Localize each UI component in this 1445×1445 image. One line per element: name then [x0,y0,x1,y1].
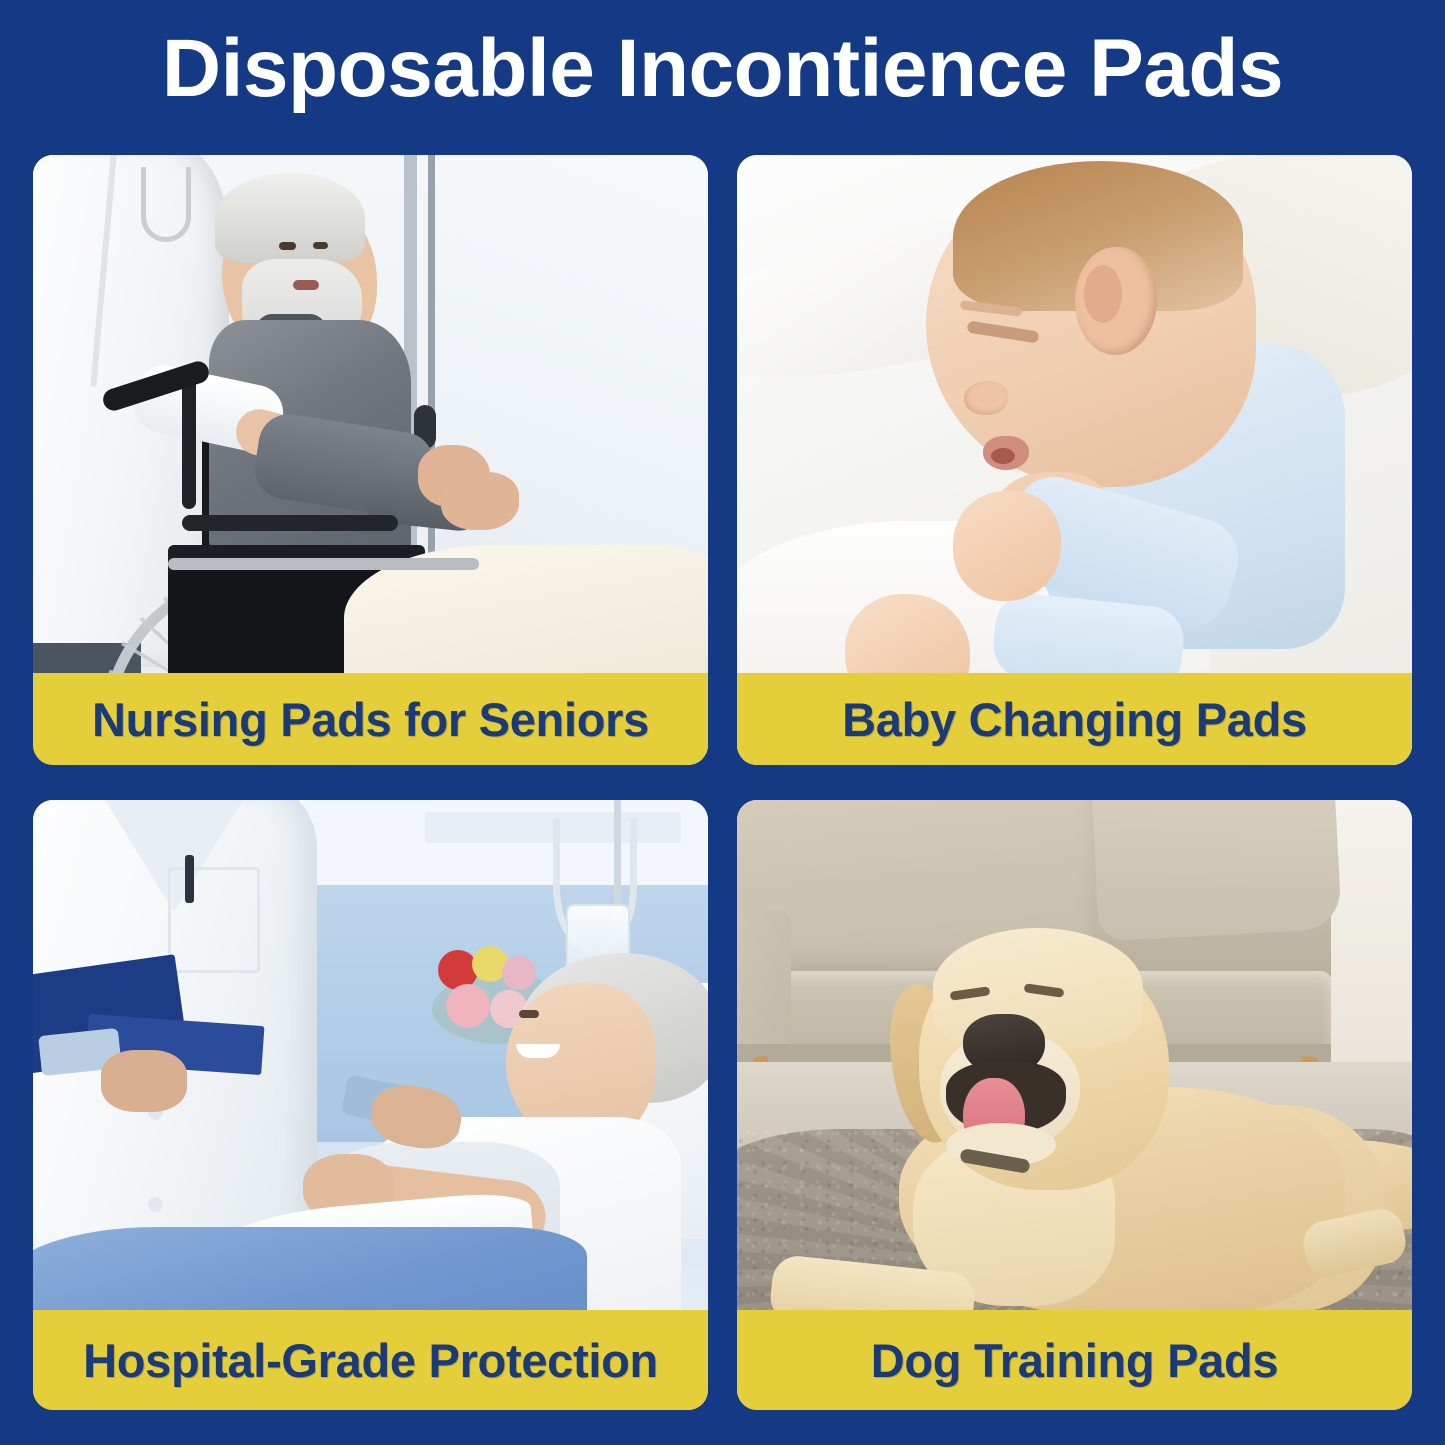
card-nursing-pads-seniors[interactable]: Nursing Pads for Seniors [33,155,708,765]
card-dog-training-pads[interactable]: Dog Training Pads [737,800,1412,1410]
card-caption: Baby Changing Pads [737,673,1412,765]
card-caption: Nursing Pads for Seniors [33,673,708,765]
product-use-case-grid: Nursing Pads for Seniors Baby Changing P… [33,155,1412,1410]
card-caption: Dog Training Pads [737,1310,1412,1410]
card-hospital-grade-protection[interactable]: Hospital-Grade Protection [33,800,708,1410]
card-caption: Hospital-Grade Protection [33,1310,708,1410]
page-title: Disposable Incontience Pads [0,28,1445,110]
card-baby-changing-pads[interactable]: Baby Changing Pads [737,155,1412,765]
